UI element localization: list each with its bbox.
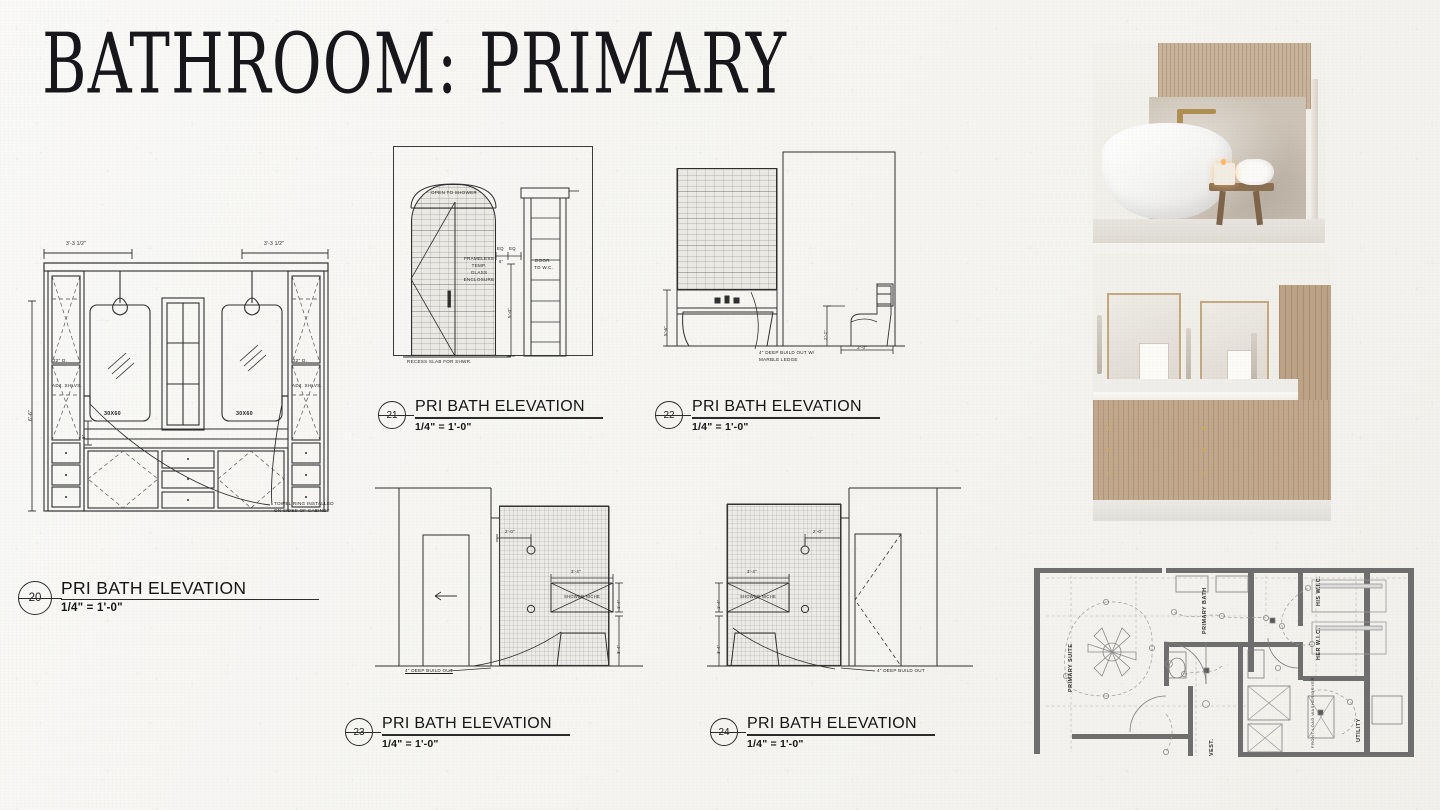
floor-plan-label-utility: UTILITY [1356,718,1362,742]
dim-lower-23: 3'-4" [616,645,621,654]
dim-height-21: 5'-0" [507,308,512,318]
drawing-scale-23: 1/4" = 1'-0" [382,738,570,750]
drawing-23-shower-niche-elevation: 2'-0" 3'-4" 1'-4" 3'-4" SHOWER NICHE 4" … [373,468,653,693]
vanity-photo-knob-4 [1202,427,1205,430]
shelves-note-left: ADJ. SHLVS. [51,383,83,390]
floor-plan-svg [1016,556,1428,768]
glass-note-line4: ENCLOSURE [459,277,499,284]
drawing-rule-21 [415,417,603,418]
vanity-photo-backsplash [1093,379,1298,392]
glass-note-line1: FRAMELESS [459,256,499,263]
drawing-scale-24: 1/4" = 1'-0" [747,738,935,750]
floor-plan-label-washer-dryer: FRONT-LOAD WASHER/DRYER [1310,677,1315,748]
drawing-name-22: PRI BATH ELEVATION [692,398,880,416]
slide-canvas: BATHROOM: PRIMARY [0,0,1440,810]
dim-niche-width-23: 3'-4" [571,569,581,574]
dim-overall-height: 6'-6" [28,410,34,421]
drawing-20-vanity-elevation: 3'-3 1/2" 3'-3 1/2" 6'-6" 22" D. ADJ. SH… [22,243,362,533]
bubble-rule-22 [655,415,691,416]
drawing-title-20[interactable]: 20 PRI BATH ELEVATION 1/4" = 1'-0" [18,578,319,615]
drawing-scale-21: 1/4" = 1'-0" [415,421,603,433]
mirror-size-right: 30X60 [236,411,253,419]
recess-slab-note: RECESS SLAB FOR SHWR. [407,359,472,366]
glass-note-line3: GLASS [459,270,499,277]
marble-ledge-note-line2: MARBLE LEDGE [759,357,798,364]
dim-lower-24: 3'-4" [716,645,721,654]
shower-detail-21 [393,146,593,361]
floor-plan-label-his-wic: HIS W.I.C. [1316,576,1322,606]
bubble-rule-23 [345,732,381,733]
drawing-rule-24 [747,734,935,735]
dim-6in-21: 6" [499,259,503,264]
marble-ledge-note-line1: 4" DEEP BUILD OUT W/ [759,350,814,357]
eq-dim-left: EQ [497,246,504,251]
drawing-name-20: PRI BATH ELEVATION [61,578,319,598]
shower-niche-detail-24 [705,468,985,680]
dim-head-24: 2'-0" [813,529,823,534]
drawing-title-23[interactable]: 23 PRI BATH ELEVATION 1/4" = 1'-0" [345,715,570,750]
dim-niche-width-24: 3'-4" [747,569,757,574]
buildout-note-24: 4" DEEP BUILD OUT [877,668,925,675]
vanity-photo-base-cabinets [1093,400,1331,499]
drawing-scale-20: 1/4" = 1'-0" [61,602,319,614]
bubble-rule-20 [18,598,62,599]
photo-vanity [1093,253,1331,521]
tub-photo-candle-flame [1221,159,1227,165]
bubble-rule-21 [378,415,414,416]
floor-plan-label-primary-bath: PRIMARY BATH [1202,587,1208,634]
tub-photo-rolled-towel [1235,159,1274,185]
drawing-title-21[interactable]: 21 PRI BATH ELEVATION 1/4" = 1'-0" [378,398,603,433]
tub-photo-floor [1093,219,1325,243]
shower-niche-detail-23 [373,468,653,680]
shower-niche-label-23: SHOWER NICHE [553,594,611,600]
tub-photo-faucet-handle [1177,113,1184,123]
drawing-rule-23 [382,734,570,735]
dim-backsplash: 6" [81,435,86,439]
dim-toilet-width-22: 3'-0" [857,345,867,350]
drawing-name-23: PRI BATH ELEVATION [382,715,570,733]
drawing-24-shower-niche-elevation-mirrored: 2'-0" 3'-4" 1'-4" 3'-4" SHOWER NICHE 4" … [705,468,985,693]
drawing-21-shower-elevation: OPEN TO SHOWER FRAMELESS TEMP. GLASS ENC… [393,146,593,374]
shelves-note-right: ADJ. SHLVS. [291,383,323,390]
shower-niche-label-24: SHOWER NICHE [729,594,787,600]
door-to-wc-line1: DOOR [535,258,550,265]
dim-toilet-height-22: 2'-2" [823,330,828,340]
buildout-note-23: 4" DEEP BUILD OUT [405,668,453,675]
drawing-rule-22 [692,417,880,418]
floor-plan-primary-suite: PRIMARY SUITE PRIMARY BATH HIS W.I.C. HE… [1016,556,1428,768]
tub-photo-wall-edge [1311,79,1318,227]
vanity-photo-sconce-2 [1186,328,1191,382]
vanity-photo-floor [1093,500,1331,521]
vanity-photo-knob-5 [1202,448,1205,451]
floor-plan-label-primary-suite: PRIMARY SUITE [1068,644,1074,692]
bubble-rule-24 [710,732,746,733]
floor-plan-label-her-wic: HER W.I.C. [1316,627,1322,660]
dim-niche-height-23: 1'-4" [616,600,621,609]
towel-ring-note-line2: ON SIDES OF CABINET [274,508,330,515]
open-to-shower-note: OPEN TO SHOWER [417,190,491,197]
depth-note-right: 22" D. [293,358,307,365]
page-title: BATHROOM: PRIMARY [42,22,787,108]
dim-head-23: 2'-0" [505,529,515,534]
drawing-rule-20 [61,599,319,600]
drawing-22-tub-toilet-elevation: 5'-6" 2'-2" 3'-0" 4" DEEP BUILD OUT W/ M… [655,146,905,374]
drawing-name-21: PRI BATH ELEVATION [415,398,603,416]
tub-photo-bathtub [1102,123,1232,219]
towel-ring-note-line1: TOWEL RING INSTALLED [274,501,334,508]
drawing-scale-22: 1/4" = 1'-0" [692,421,880,433]
drawing-name-24: PRI BATH ELEVATION [747,715,935,733]
eq-dim-right: EQ [509,246,516,251]
dim-right-top: 3'-3 1/2" [264,241,284,247]
tub-photo-candle [1214,163,1235,185]
floor-plan-label-vestibule: VEST. [1209,739,1215,756]
vanity-photo-sconce-1 [1097,315,1102,374]
glass-note-line2: TEMP. [459,263,499,270]
dim-niche-height-24: 1'-4" [716,600,721,609]
mirror-size-left: 30X60 [104,411,121,419]
dim-tub-height-22: 5'-6" [663,326,668,336]
dim-left-top: 3'-3 1/2" [66,241,86,247]
photo-tub [1093,43,1325,243]
tub-toilet-detail-22 [655,146,905,361]
drawing-title-22[interactable]: 22 PRI BATH ELEVATION 1/4" = 1'-0" [655,398,880,433]
door-to-wc-line2: TO W.C. [534,265,553,272]
drawing-title-24[interactable]: 24 PRI BATH ELEVATION 1/4" = 1'-0" [710,715,935,750]
vanity-photo-knob-1 [1107,427,1110,430]
depth-note-left: 22" D. [53,358,67,365]
